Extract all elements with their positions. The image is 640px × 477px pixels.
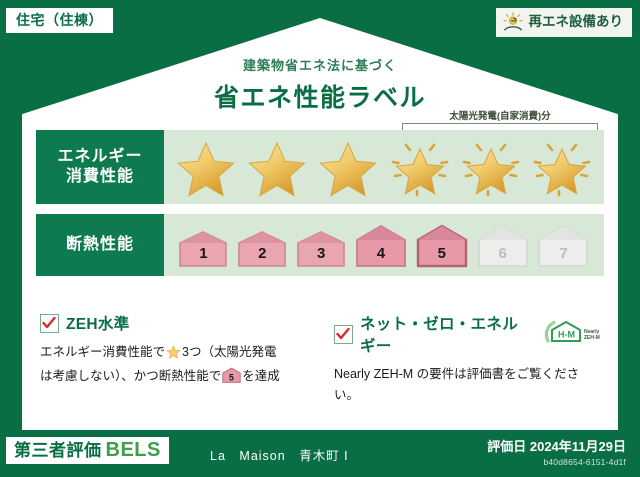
evaluation-info: 評価日 2024年11月29日 b40d8654-6151-4d1f	[487, 436, 626, 467]
record-id: b40d8654-6151-4d1f	[487, 457, 626, 467]
insulation-level-area: 1 2 3 4	[164, 214, 604, 276]
bels-badge: 第三者評価 BELS	[6, 437, 169, 464]
solar-bracket-line	[402, 123, 598, 130]
energy-performance-label: エネルギー 消費性能	[36, 130, 164, 204]
energy-performance-row: エネルギー 消費性能 太陽光発電(自家消費)分	[36, 130, 604, 204]
zeh-standard-note-header: ZEH水準	[40, 312, 306, 334]
insulation-level-4: 4	[355, 222, 407, 268]
zeh-standard-body: エネルギー消費性能で3つ（太陽光発電は考慮しない）、かつ断熱性能で5を達成	[40, 342, 306, 389]
solar-bracket-label: 太陽光発電(自家消費)分	[402, 108, 598, 122]
building-name: La Maison 青木町 I	[210, 445, 349, 464]
zeh-standard-checkbox[interactable]	[40, 314, 59, 333]
building-type-badge-label: 住宅（住棟）	[16, 12, 103, 28]
insulation-level-6-inactive: 6	[477, 222, 529, 268]
renewable-equipment-badge: 再エネ設備あり	[496, 8, 633, 37]
net-zero-energy-title: ネット・ゼロ・エネルギー	[360, 312, 533, 356]
insulation-performance-label: 断熱性能	[36, 214, 164, 276]
insulation-level-5-current: 5	[416, 222, 468, 268]
zeh-body-part1: エネルギー消費性能で	[40, 345, 165, 359]
zeh-standard-note: ZEH水準 エネルギー消費性能で3つ（太陽光発電は考慮しない）、かつ断熱性能で5…	[26, 312, 320, 412]
zeh-m-logo-sub2: ZEH-M	[584, 335, 600, 341]
star-solar-sparkle-4	[389, 136, 451, 198]
renewable-equipment-badge-label: 再エネ設備あり	[529, 15, 624, 29]
footer-bar: 第三者評価 BELS La Maison 青木町 I 評価日 2024年11月2…	[0, 430, 640, 477]
svg-text:5: 5	[229, 372, 234, 382]
insulation-level-2: 2	[237, 222, 287, 268]
bels-badge-jp: 第三者評価	[14, 442, 102, 459]
star-filled-3	[317, 136, 379, 198]
net-zero-energy-note: ネット・ゼロ・エネルギー H-M Nearly ZEH-M Nearly ZEH…	[320, 312, 614, 412]
insulation-level-7-inactive: 7	[537, 222, 589, 268]
zeh-body-part4: を達成	[242, 369, 280, 383]
energy-performance-stars-area: 太陽光発電(自家消費)分	[164, 130, 604, 204]
insulation-level-1: 1	[178, 222, 228, 268]
zeh-body-part2: 3つ（太陽光発電	[182, 345, 276, 359]
check-icon	[336, 327, 350, 341]
insulation-level-3: 3	[296, 222, 346, 268]
net-zero-energy-checkbox[interactable]	[334, 325, 353, 344]
sun-solar-icon	[502, 12, 524, 32]
footnotes-area: ZEH水準 エネルギー消費性能で3つ（太陽光発電は考慮しない）、かつ断熱性能で5…	[26, 312, 614, 412]
star-rating-group	[164, 130, 604, 204]
house-5-icon-inline: 5	[222, 372, 241, 386]
label-subtitle: 建築物省エネ法に基づく	[0, 55, 640, 74]
insulation-performance-label-text: 断熱性能	[66, 235, 134, 255]
star-solar-sparkle-6	[531, 136, 593, 198]
bels-badge-en: BELS	[106, 440, 161, 460]
energy-performance-label: 住宅（住棟） 再エネ設備あり 建築物省エネ法に基づく 省エネ性能ラベル	[0, 0, 640, 477]
label-title-block: 建築物省エネ法に基づく 省エネ性能ラベル	[0, 55, 640, 114]
check-icon	[42, 316, 56, 330]
star-filled-1	[175, 136, 237, 198]
star-icon-inline	[166, 348, 181, 362]
insulation-level-group: 1 2 3 4	[164, 214, 604, 276]
net-zero-energy-note-header: ネット・ゼロ・エネルギー H-M Nearly ZEH-M	[334, 312, 600, 356]
solar-self-consumption-bracket: 太陽光発電(自家消費)分	[402, 110, 598, 130]
svg-text:H-M: H-M	[558, 329, 575, 339]
evaluation-date: 評価日 2024年11月29日	[487, 436, 626, 455]
zeh-body-part3: は考慮しない）、かつ断熱性能で	[40, 369, 221, 383]
star-solar-sparkle-5	[460, 136, 522, 198]
zeh-standard-title: ZEH水準	[66, 312, 130, 334]
energy-performance-label-line1: エネルギー	[57, 147, 142, 167]
building-type-badge: 住宅（住棟）	[6, 8, 113, 33]
net-zero-energy-body: Nearly ZEH-M の要件は評価書をご覧ください。	[334, 364, 600, 405]
insulation-performance-row: 断熱性能 1 2 3	[36, 214, 604, 276]
star-filled-2	[246, 136, 308, 198]
zeh-m-house-logo: H-M Nearly ZEH-M	[544, 319, 600, 350]
energy-performance-label-line2: 消費性能	[66, 167, 134, 187]
